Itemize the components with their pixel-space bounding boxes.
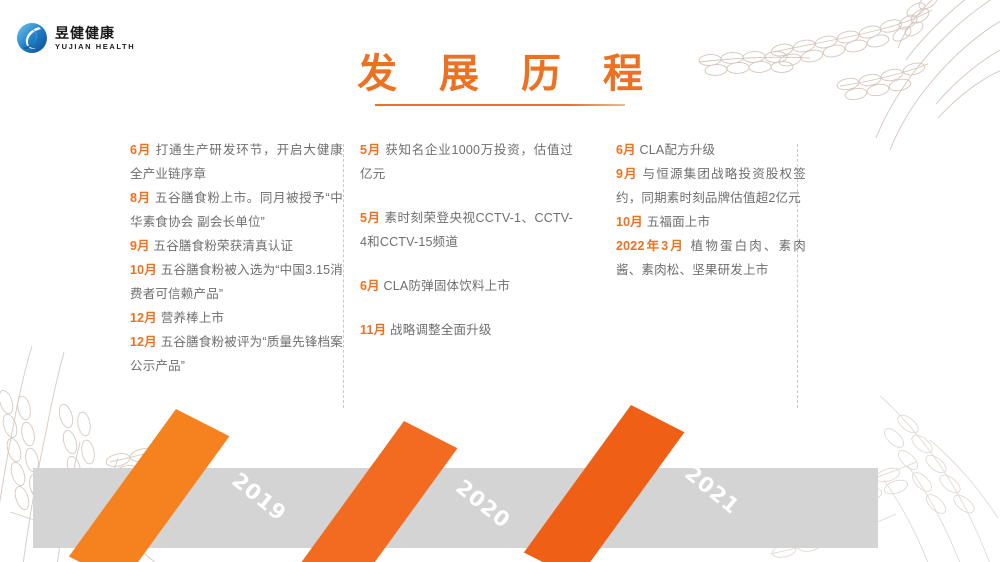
- timeline-entry-text: 与恒源集团战略投资股权签约，同期素时刻品牌估值超2亿元: [616, 167, 806, 205]
- timeline-entry-text: CLA配方升级: [636, 143, 715, 157]
- timeline-entry-month: 8月: [130, 191, 151, 205]
- timeline-entry: 5月 素时刻荣登央视CCTV-1、CCTV-4和CCTV-15频道: [360, 206, 573, 254]
- timeline-entry-text: 战略调整全面升级: [386, 323, 491, 337]
- timeline-entry-month: 6月: [616, 143, 636, 157]
- timeline-column-2020: 5月 获知名企业1000万投资，估值过亿元5月 素时刻荣登央视CCTV-1、CC…: [360, 138, 573, 342]
- timeline-entry-text: 五谷膳食粉被评为“质量先锋档案公示产品”: [130, 335, 343, 373]
- brand-name-en: YUJIAN HEALTH: [55, 43, 135, 51]
- title-underline: [375, 104, 625, 106]
- timeline-entry-text: 五谷膳食粉上市。同月被授予“中华素食协会 副会长单位”: [130, 191, 343, 229]
- timeline-entry-month: 5月: [360, 211, 380, 225]
- timeline-column-2019: 6月 打通生产研发环节，开启大健康全产业链序章8月 五谷膳食粉上市。同月被授予“…: [130, 138, 343, 378]
- timeline-entry-month: 6月: [360, 279, 380, 293]
- timeline-entry-text: 五谷膳食粉荣获清真认证: [150, 239, 293, 253]
- timeline-entry: 12月 五谷膳食粉被评为“质量先锋档案公示产品”: [130, 330, 343, 378]
- page-title-block: 发 展 历 程: [0, 52, 1000, 106]
- timeline-entry: 9月 五谷膳食粉荣获清真认证: [130, 234, 343, 258]
- timeline-entry-text: 五谷膳食粉被入选为“中国3.15消费者可信赖产品”: [130, 263, 343, 301]
- timeline-entry-text: 打通生产研发环节，开启大健康全产业链序章: [130, 143, 343, 181]
- timeline-entry-month: 5月: [360, 143, 381, 157]
- timeline-entry: 6月 打通生产研发环节，开启大健康全产业链序章: [130, 138, 343, 186]
- timeline-entry: 5月 获知名企业1000万投资，估值过亿元: [360, 138, 573, 186]
- timeline-column-2021: 6月 CLA配方升级9月 与恒源集团战略投资股权签约，同期素时刻品牌估值超2亿元…: [616, 138, 806, 282]
- timeline-entry-text: CLA防弹固体饮料上市: [380, 279, 510, 293]
- timeline-entry-month: 10月: [130, 263, 157, 277]
- timeline-entry: 11月 战略调整全面升级: [360, 318, 573, 342]
- timeline-entry: 10月 五谷膳食粉被入选为“中国3.15消费者可信赖产品”: [130, 258, 343, 306]
- timeline-columns: 6月 打通生产研发环节，开启大健康全产业链序章8月 五谷膳食粉上市。同月被授予“…: [0, 138, 1000, 418]
- timeline-entry-text: 五福面上市: [643, 215, 710, 229]
- page-title: 发 展 历 程: [343, 52, 657, 96]
- timeline-entry-month: 9月: [616, 167, 638, 181]
- timeline-entry: 8月 五谷膳食粉上市。同月被授予“中华素食协会 副会长单位”: [130, 186, 343, 234]
- timeline-entry-month: 6月: [130, 143, 151, 157]
- timeline-entry-text: 素时刻荣登央视CCTV-1、CCTV-4和CCTV-15频道: [360, 211, 573, 249]
- timeline-entry-month: 11月: [360, 323, 386, 337]
- timeline-entry: 6月 CLA防弹固体饮料上市: [360, 274, 573, 298]
- timeline-entry: 9月 与恒源集团战略投资股权签约，同期素时刻品牌估值超2亿元: [616, 162, 806, 210]
- timeline-entry-text: 营养棒上市: [157, 311, 224, 325]
- timeline-entry-month: 12月: [130, 335, 157, 349]
- timeline-entry: 12月 营养棒上市: [130, 306, 343, 330]
- timeline-entry: 10月 五福面上市: [616, 210, 806, 234]
- timeline-entry-month: 12月: [130, 311, 157, 325]
- timeline-entry-month: 10月: [616, 215, 643, 229]
- timeline-entry: 2022年3月 植物蛋白肉、素肉酱、素肉松、坚果研发上市: [616, 234, 806, 282]
- timeline-entry: 6月 CLA配方升级: [616, 138, 806, 162]
- brand-name-cn: 昱健健康: [55, 26, 135, 40]
- yin-yang-sphere-icon: [16, 22, 48, 54]
- brand-logo: 昱健健康 YUJIAN HEALTH: [16, 22, 135, 54]
- slide-canvas: 昱健健康 YUJIAN HEALTH 发 展 历 程 6月 打通生产研发环节，开…: [0, 0, 1000, 562]
- timeline-entry-month: 2022年3月: [616, 239, 685, 253]
- column-divider-1: [343, 144, 344, 408]
- timeline-entry-text: 获知名企业1000万投资，估值过亿元: [360, 143, 573, 181]
- timeline-entry-month: 9月: [130, 239, 150, 253]
